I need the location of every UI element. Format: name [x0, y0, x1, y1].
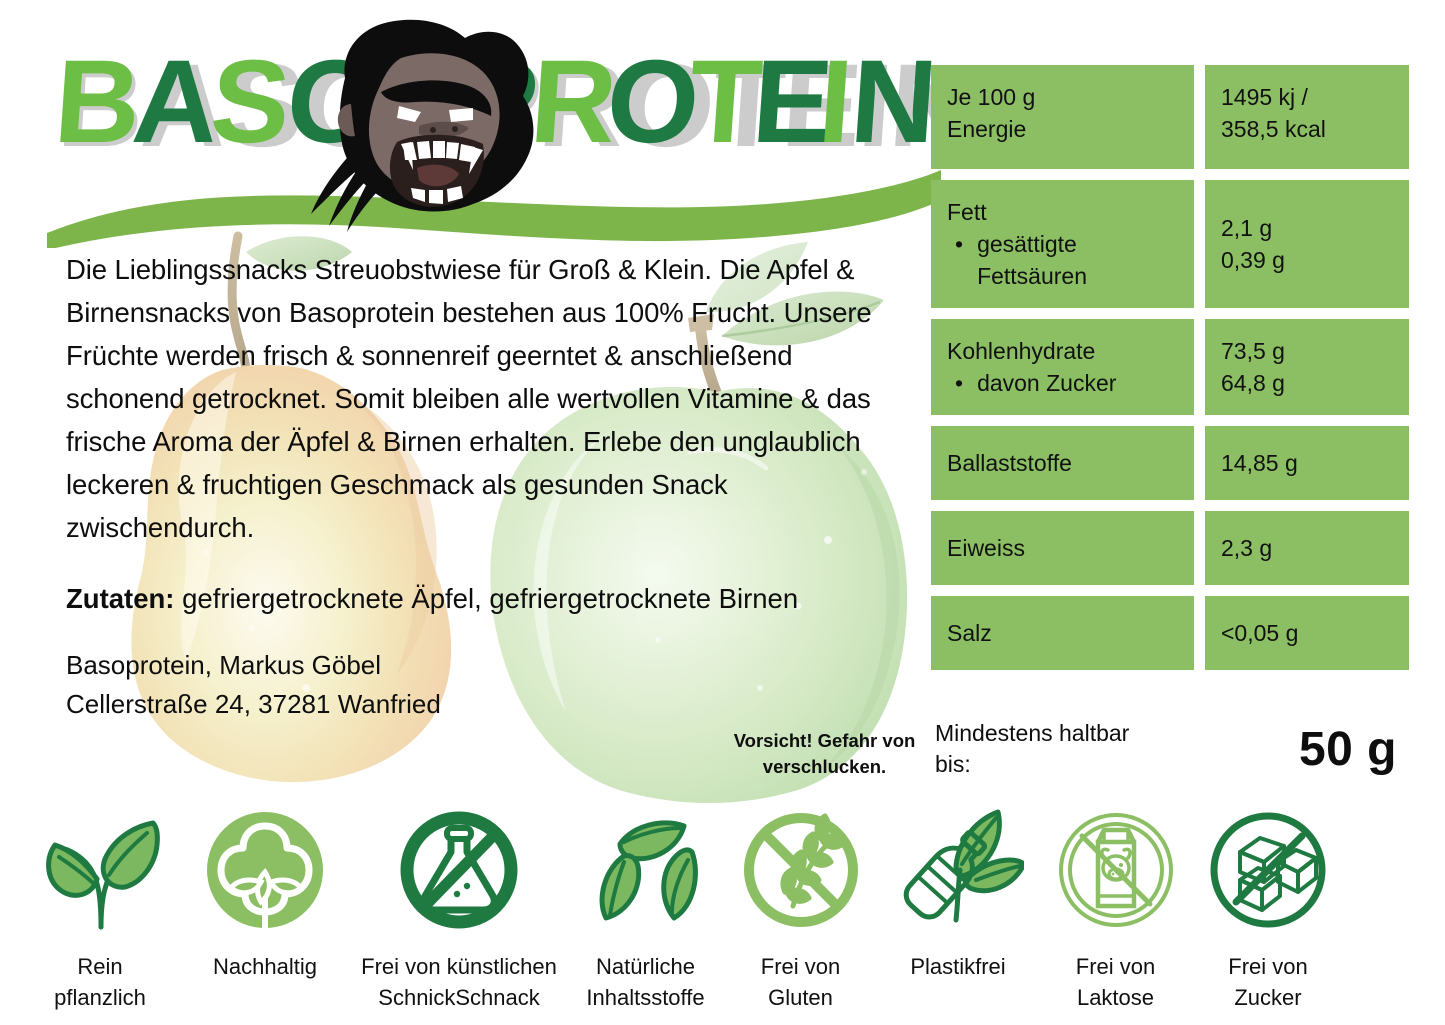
svg-text:S: S: [207, 36, 293, 168]
no-chemical-flask-icon: [393, 806, 525, 941]
nutrition-label: Fett: [947, 196, 1180, 228]
two-leaves-sprout-icon: [35, 806, 165, 941]
nutrition-label: Eiweiss: [947, 532, 1025, 564]
nutrition-label: Salz: [947, 617, 992, 649]
nutrition-label: Kohlenhydrate: [947, 335, 1180, 367]
nutrition-value: 14,85 g: [1221, 447, 1298, 479]
brand-logo: BASO B A S O PROTEIN P R O T E I N: [45, 18, 945, 248]
nutrition-value-cell: 2,1 g 0,39 g: [1205, 180, 1409, 308]
table-row: Eiweiss 2,3 g: [931, 511, 1409, 585]
badge-label: Frei von Gluten: [761, 951, 840, 1013]
three-leaves-recycle-icon: [580, 806, 712, 941]
ingredients-label: Zutaten:: [66, 583, 174, 614]
badge-rein-pflanzlich: Rein pflanzlich: [20, 806, 180, 1013]
ingredients-line: Zutaten: gefriergetrocknete Äpfel, gefri…: [66, 579, 886, 618]
badge-no-artificial: Frei von künstlichen SchnickSchnack: [350, 806, 568, 1013]
plastic-bottle-leaves-icon: [892, 806, 1024, 941]
nutrition-value-cell: 2,3 g: [1205, 511, 1409, 585]
no-lactose-milk-carton-icon: [1050, 806, 1182, 941]
manufacturer-address: Basoprotein, Markus Göbel Cellerstraße 2…: [66, 646, 886, 724]
nutrition-table: Je 100 g Energie 1495 kj / 358,5 kcal Fe…: [931, 65, 1409, 670]
nutrition-value: <0,05 g: [1221, 617, 1298, 649]
nutrition-label-line2: Energie: [947, 113, 1180, 145]
badge-sugar-free: Frei von Zucker: [1193, 806, 1343, 1013]
nutrition-value-line2: 64,8 g: [1221, 367, 1395, 399]
nutrition-label-cell: Fett • gesättigte Fettsäuren: [931, 180, 1194, 308]
nutrition-label-cell: Je 100 g Energie: [931, 65, 1194, 169]
bullet-icon: •: [955, 228, 963, 292]
nutrition-sub-item: • davon Zucker: [947, 367, 1180, 399]
nutrition-value: 73,5 g: [1221, 335, 1395, 367]
net-weight: 50 g: [1299, 722, 1397, 777]
choking-warning: Vorsicht! Gefahr von verschlucken.: [727, 728, 922, 780]
no-gluten-wheat-icon: [735, 806, 867, 941]
nutrition-sub-label: davon Zucker: [977, 367, 1180, 399]
table-row: Kohlenhydrate • davon Zucker 73,5 g 64,8…: [931, 319, 1409, 415]
nutrition-value-cell: 73,5 g 64,8 g: [1205, 319, 1409, 415]
address-line-1: Basoprotein, Markus Göbel: [66, 646, 886, 685]
nutrition-value-cell: <0,05 g: [1205, 596, 1409, 670]
nutrition-value-cell: 1495 kj / 358,5 kcal: [1205, 65, 1409, 169]
nutrition-value-cell: 14,85 g: [1205, 426, 1409, 500]
certification-badge-row: Rein pflanzlich Nachhaltig: [0, 806, 1445, 1025]
badge-label: Frei von künstlichen SchnickSchnack: [361, 951, 557, 1013]
table-row: Salz <0,05 g: [931, 596, 1409, 670]
nutrition-label: Ballaststoffe: [947, 447, 1072, 479]
badge-label: Nachhaltig: [213, 951, 317, 982]
nutrition-label-cell: Eiweiss: [931, 511, 1194, 585]
bullet-icon: •: [955, 367, 963, 399]
nutrition-label: Je 100 g: [947, 81, 1180, 113]
table-row: Fett • gesättigte Fettsäuren 2,1 g 0,39 …: [931, 180, 1409, 308]
ingredients-value: gefriergetrocknete Äpfel, gefriergetrock…: [174, 583, 798, 614]
no-sugar-cubes-icon: [1202, 806, 1334, 941]
table-row: Ballaststoffe 14,85 g: [931, 426, 1409, 500]
nutrition-label-cell: Kohlenhydrate • davon Zucker: [931, 319, 1194, 415]
description-paragraph: Die Lieblingssnacks Streuobstwiese für G…: [66, 248, 886, 549]
badge-label: Frei von Laktose: [1076, 951, 1155, 1013]
best-before-label: Mindestens haltbar bis:: [935, 718, 1155, 780]
badge-gluten-free: Frei von Gluten: [723, 806, 878, 1013]
nutrition-value-line2: 358,5 kcal: [1221, 113, 1395, 145]
nutrition-value: 2,1 g: [1221, 212, 1395, 244]
badge-label: Natürliche Inhaltsstoffe: [586, 951, 704, 1013]
badge-label: Plastikfrei: [910, 951, 1005, 982]
cotton-flower-circle-icon: [199, 806, 331, 941]
badge-nachhaltig: Nachhaltig: [180, 806, 350, 982]
badge-natural-ingredients: Natürliche Inhaltsstoffe: [568, 806, 723, 1013]
svg-text:N: N: [847, 36, 939, 168]
address-line-2: Cellerstraße 24, 37281 Wanfried: [66, 685, 886, 724]
nutrition-value-line2: 0,39 g: [1221, 244, 1395, 276]
badge-plastic-free: Plastikfrei: [878, 806, 1038, 982]
nutrition-sub-label: gesättigte Fettsäuren: [977, 228, 1180, 292]
product-description-block: Die Lieblingssnacks Streuobstwiese für G…: [66, 248, 886, 724]
table-row: Je 100 g Energie 1495 kj / 358,5 kcal: [931, 65, 1409, 169]
badge-label: Frei von Zucker: [1228, 951, 1307, 1013]
nutrition-label-cell: Ballaststoffe: [931, 426, 1194, 500]
nutrition-sub-item: • gesättigte Fettsäuren: [947, 228, 1180, 292]
nutrition-label-cell: Salz: [931, 596, 1194, 670]
nutrition-value: 1495 kj /: [1221, 81, 1395, 113]
badge-lactose-free: Frei von Laktose: [1038, 806, 1193, 1013]
nutrition-value: 2,3 g: [1221, 532, 1272, 564]
badge-label: Rein pflanzlich: [54, 951, 146, 1013]
